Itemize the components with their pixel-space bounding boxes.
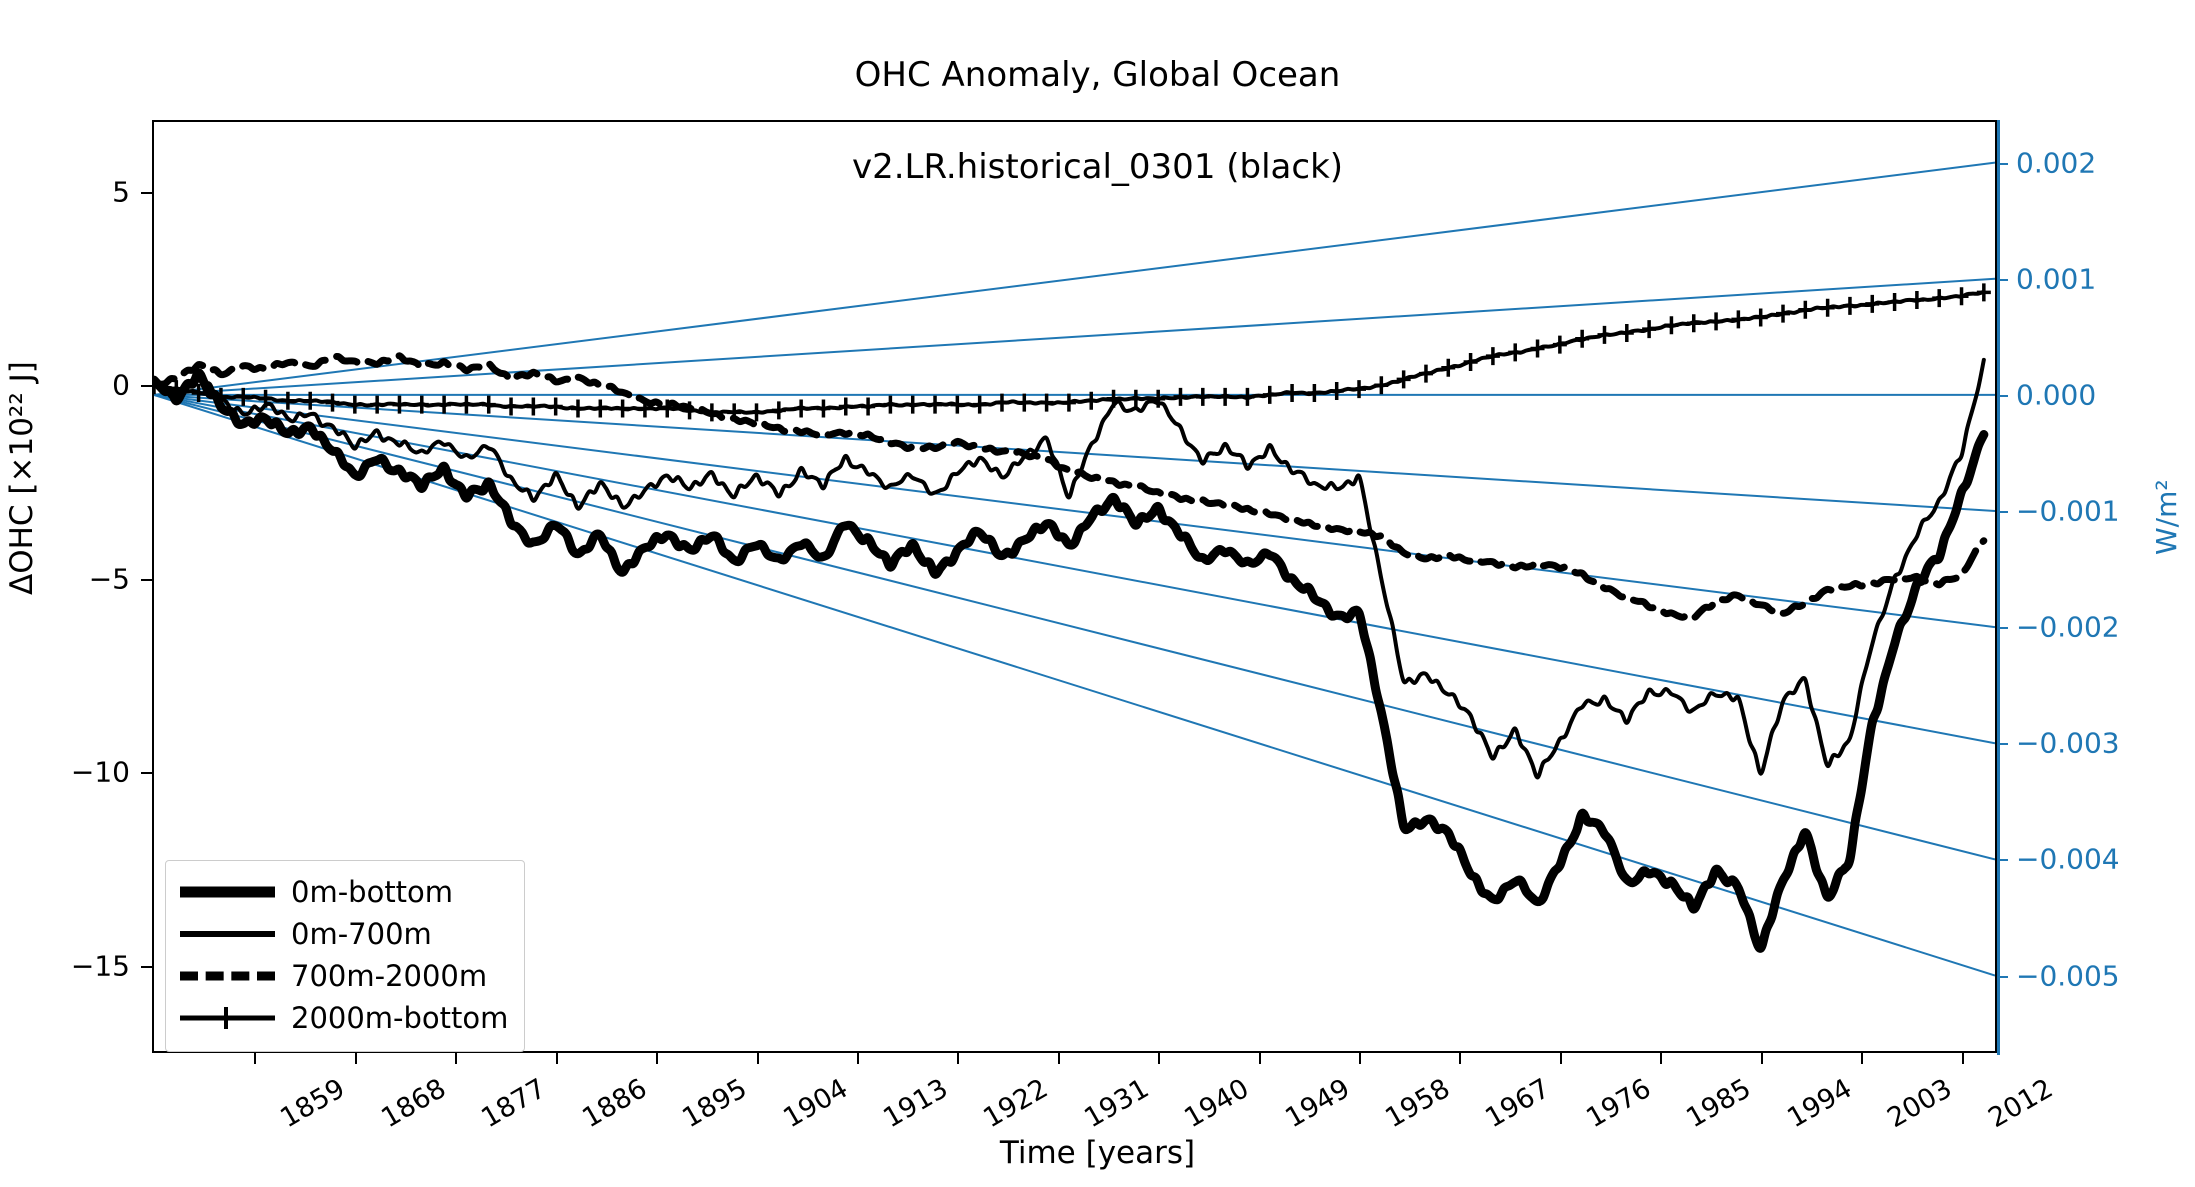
legend-swatch-2000m-bottom (180, 1006, 275, 1030)
x-axis-tick-label: 1886 (577, 1073, 652, 1134)
series-marker-plus (861, 398, 875, 416)
series-marker-plus (1865, 295, 1879, 313)
x-axis-tick (1560, 1053, 1562, 1064)
series-marker-plus (549, 398, 563, 416)
series-marker-plus (839, 398, 853, 416)
reference-line (154, 279, 1995, 395)
series-marker-plus (1285, 384, 1299, 402)
series-marker-plus (1129, 390, 1143, 408)
right-axis-tick (1997, 627, 2008, 629)
legend-item[interactable]: 700m-2000m (180, 955, 508, 997)
y-axis-tick-label: −10 (0, 756, 130, 789)
right-axis-tick (1997, 279, 2008, 281)
x-axis-tick-label: 1958 (1380, 1073, 1455, 1134)
legend-label: 0m-bottom (291, 875, 453, 909)
series-marker-plus (928, 396, 942, 414)
right-axis-tick (1997, 163, 2008, 165)
legend-label: 700m-2000m (291, 959, 487, 993)
right-axis-tick (1997, 395, 2008, 397)
y-axis-tick-label: −15 (0, 949, 130, 982)
y-axis-tick (141, 192, 152, 194)
series-marker-plus (1062, 394, 1076, 412)
series-marker-plus (526, 398, 540, 416)
series-marker-plus (571, 399, 585, 417)
series-marker-plus (1597, 326, 1611, 344)
reference-line (154, 395, 1995, 627)
x-axis-tick (1058, 1053, 1060, 1064)
series-marker-plus (1888, 293, 1902, 311)
series-marker-plus (906, 396, 920, 414)
right-y-axis-label: W/m² (2150, 479, 2183, 555)
series-marker-plus (1240, 388, 1254, 406)
series-marker-plus (1731, 310, 1745, 328)
series-marker-plus (1620, 324, 1634, 342)
x-axis-tick-label: 1904 (778, 1073, 853, 1134)
series-marker-plus (1107, 390, 1121, 408)
x-axis-tick-label: 1994 (1782, 1073, 1857, 1134)
series-marker-plus (1017, 394, 1031, 412)
y-axis-label-text: ΔOHC [×10²² J] (4, 361, 40, 595)
series-marker-plus (1553, 336, 1567, 354)
x-axis-tick (1660, 1053, 1662, 1064)
x-axis-tick (656, 1053, 658, 1064)
series-marker-plus (482, 396, 496, 414)
series-marker-plus (816, 399, 830, 417)
x-axis-tick-label: 1976 (1581, 1073, 1656, 1134)
series-marker-plus (1642, 320, 1656, 338)
series-marker-plus (1843, 297, 1857, 315)
series-marker-plus (1910, 291, 1924, 309)
right-axis-spine (1997, 120, 2000, 1055)
series-marker-plus (1173, 388, 1187, 406)
right-axis-tick-label: −0.002 (2016, 611, 2120, 644)
series-marker-plus (1776, 305, 1790, 323)
right-y-axis-label-text: W/m² (2150, 479, 2183, 555)
y-axis-tick (141, 772, 152, 774)
right-axis-tick-label: −0.001 (2016, 495, 2120, 528)
right-axis-tick (1997, 859, 2008, 861)
x-axis-label-text: Time [years] (1000, 1135, 1195, 1171)
series-marker-plus (1397, 370, 1411, 388)
y-axis-tick (141, 385, 152, 387)
right-axis-tick-label: −0.004 (2016, 843, 2120, 876)
series-marker-plus (883, 396, 897, 414)
y-axis-tick-label: 5 (0, 175, 130, 208)
series-marker-plus (1664, 316, 1678, 334)
x-axis-tick-label: 1940 (1179, 1073, 1254, 1134)
x-axis-tick-label: 1868 (376, 1073, 451, 1134)
x-axis-tick (1459, 1053, 1461, 1064)
right-axis-tick-label: −0.005 (2016, 959, 2120, 992)
series-marker-plus (1508, 343, 1522, 361)
x-axis-tick (1359, 1053, 1361, 1064)
series-marker-plus (1955, 287, 1969, 305)
series-marker-plus (1218, 388, 1232, 406)
series-marker-plus (1977, 283, 1991, 301)
series-marker-plus (1307, 384, 1321, 402)
x-axis-tick-label: 1967 (1481, 1073, 1556, 1134)
series-marker-plus (950, 396, 964, 414)
series-marker-plus (1464, 353, 1478, 371)
chart-title-line-1: OHC Anomaly, Global Ocean (0, 52, 2195, 98)
x-axis-tick (757, 1053, 759, 1064)
series-marker-plus (794, 399, 808, 417)
right-axis-tick-label: 0.001 (2016, 262, 2096, 295)
x-axis-tick-label: 2003 (1882, 1073, 1957, 1134)
series-marker-plus (348, 396, 362, 414)
x-axis-tick-label: 1931 (1079, 1073, 1154, 1134)
series-marker-plus (1330, 382, 1344, 400)
series-marker-plus (1196, 388, 1210, 406)
x-axis-tick (957, 1053, 959, 1064)
series-marker-plus (772, 401, 786, 419)
series-marker-plus (1687, 314, 1701, 332)
x-axis-tick-label: 1922 (979, 1073, 1054, 1134)
legend-label: 2000m-bottom (291, 1001, 508, 1035)
series-marker-plus (326, 394, 340, 412)
series-marker-plus (504, 398, 518, 416)
series-marker-plus (1419, 365, 1433, 383)
y-axis-tick (141, 579, 152, 581)
legend-swatch-0m-700m (180, 922, 275, 946)
x-axis-tick-label: 1949 (1280, 1073, 1355, 1134)
series-marker-plus (1040, 394, 1054, 412)
right-axis-tick-label: 0.002 (2016, 146, 2096, 179)
x-axis-tick (1761, 1053, 1763, 1064)
x-axis-tick (1158, 1053, 1160, 1064)
legend-swatch-700m-2000m (180, 964, 275, 988)
series-marker-plus (593, 399, 607, 417)
x-axis-tick (1962, 1053, 1964, 1064)
x-axis-label: Time [years] (0, 1135, 2195, 1171)
series-marker-plus (1374, 376, 1388, 394)
series-marker-plus (1263, 386, 1277, 404)
x-axis-tick-label: 2012 (1983, 1073, 2058, 1134)
legend-item[interactable]: 2000m-bottom (180, 997, 508, 1039)
reference-line (154, 395, 1995, 511)
series-marker-plus (370, 396, 384, 414)
x-axis-tick (1259, 1053, 1261, 1064)
legend-item[interactable]: 0m-bottom (180, 871, 508, 913)
right-axis-tick (1997, 976, 2008, 978)
chart-legend: 0m-bottom 0m-700m 700m-2000m 2000m-botto… (165, 860, 525, 1052)
series-marker-plus (705, 403, 719, 421)
series-marker-plus (1754, 308, 1768, 326)
series-marker-plus (616, 399, 630, 417)
x-axis-tick (556, 1053, 558, 1064)
series-marker-plus (1709, 312, 1723, 330)
x-axis-tick-label: 1913 (878, 1073, 953, 1134)
right-axis-tick-label: −0.003 (2016, 727, 2120, 760)
x-axis-tick-label: 1985 (1681, 1073, 1756, 1134)
reference-line (154, 395, 1995, 860)
legend-label: 0m-700m (291, 917, 432, 951)
x-axis-tick (455, 1053, 457, 1064)
x-axis-tick-label: 1895 (677, 1073, 752, 1134)
series-marker-plus (995, 394, 1009, 412)
reference-line (154, 163, 1995, 395)
legend-swatch-0m-bottom (180, 880, 275, 904)
series-marker-plus (1441, 359, 1455, 377)
x-axis-tick (355, 1053, 357, 1064)
legend-item[interactable]: 0m-700m (180, 913, 508, 955)
series-marker-plus (437, 396, 451, 414)
y-axis-tick (141, 966, 152, 968)
series-marker-plus (1486, 347, 1500, 365)
series-marker-plus (1531, 339, 1545, 357)
x-axis-tick-label: 1877 (476, 1073, 551, 1134)
series-marker-plus (1932, 289, 1946, 307)
x-axis-tick (254, 1053, 256, 1064)
right-axis-tick-label: 0.000 (2016, 378, 2096, 411)
x-axis-tick (857, 1053, 859, 1064)
chart-figure: OHC Anomaly, Global Ocean v2.LR.historic… (0, 0, 2195, 1187)
series-marker-plus (750, 403, 764, 421)
right-axis-tick (1997, 511, 2008, 513)
series-marker-plus (1798, 301, 1812, 319)
series-marker-plus (459, 396, 473, 414)
y-axis-label: ΔOHC [×10²² J] (4, 361, 40, 595)
series-marker-plus (1821, 299, 1835, 317)
series-marker-plus (973, 396, 987, 414)
x-axis-tick-label: 1859 (276, 1073, 351, 1134)
x-axis-tick (1861, 1053, 1863, 1064)
series-marker-plus (1575, 330, 1589, 348)
right-axis-tick (1997, 743, 2008, 745)
